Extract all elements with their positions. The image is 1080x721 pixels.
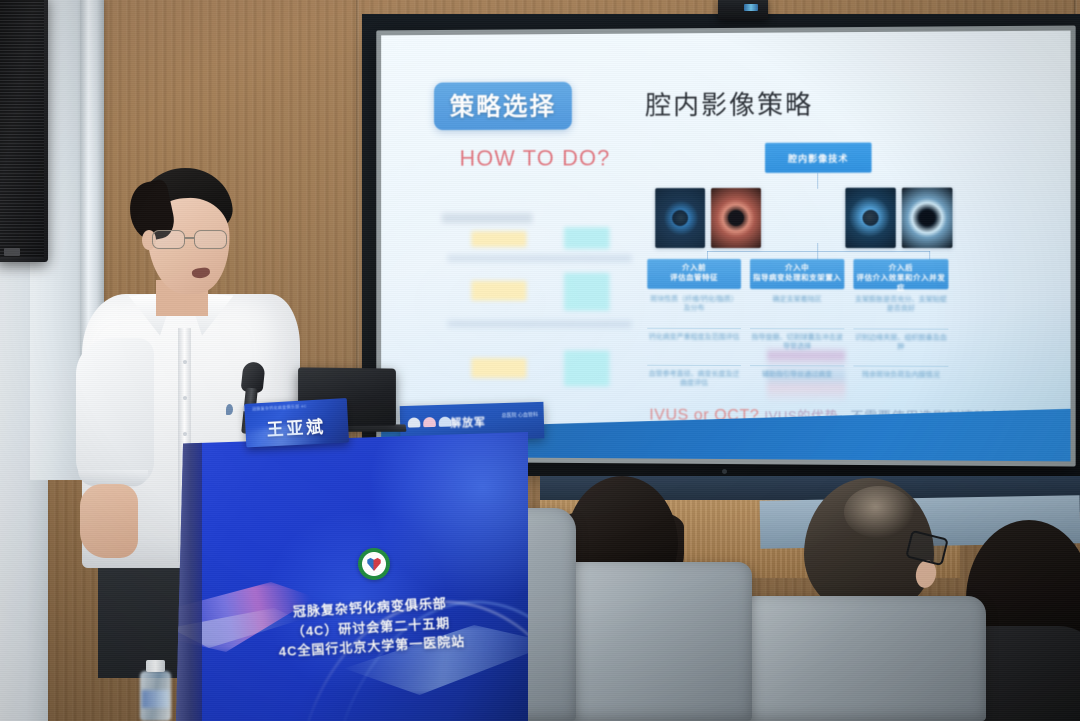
shirt-button [183,360,187,364]
table-header-blur [442,213,533,223]
oct-cross-section-2-image [902,188,953,248]
cell-sep [853,328,948,329]
cell-sep [750,328,844,329]
flow-cell-c2r3: 辅助指引导丝通过病变 [750,370,844,400]
flow-box-line1: 介入前 [647,263,741,273]
speaker-brand-logo [4,248,20,256]
speaker-glasses [150,230,234,250]
flow-box-during-intervention: 介入中 指导病变处理和支架置入 [750,259,844,289]
wall-speaker [0,0,48,262]
presentation-slide: 策略选择 腔内影像策略 HOW TO DO? [381,31,1070,462]
speaker-left-sleeve [76,338,154,488]
conference-chair-2[interactable] [556,562,752,721]
shirt-button [183,432,187,436]
bottle-label [142,690,169,708]
glasses-lens-left [152,230,185,249]
banner-subtext: 总医院 心血管科 [501,412,538,421]
water-bottle [138,660,172,721]
cell-sep [647,365,741,366]
emblem-heart-icon [366,557,382,571]
flow-connector-horizontal [707,251,930,252]
bottle-cap [146,660,165,672]
flow-stage-boxes: 介入前 评估血管特征 介入中 指导病变处理和支架置入 介入后 评估介入效果和介入… [647,259,948,289]
cell-sep [853,366,948,367]
flow-cell-c1r3: 血管参考直径、病变长度及迂曲度评估 [647,370,741,400]
flow-box-line1: 介入中 [750,263,844,273]
conference-room-photo: 策略选择 腔内影像策略 HOW TO DO? [0,0,1080,721]
banner-logo-icon [408,417,452,428]
table-cell-yellow [471,281,526,301]
flow-cell-c2r1: 确定支架着陆区 [750,295,844,325]
slide-left-table [438,209,645,412]
table-cell-cyan [564,227,610,249]
table-cell-cyan [564,350,610,386]
flow-box-post-intervention: 介入后 评估介入效果和介入并发症 [853,259,948,289]
flow-box-line2: 指导病变处理和支架置入 [750,273,844,283]
flow-cell-c1r2: 钙化病变严重程度及范围评估 [647,333,741,363]
speaker-nameplate: 冠脉复杂钙化病变俱乐部 4C 王亚斌 [244,398,349,447]
display-bezel: 策略选择 腔内影像策略 HOW TO DO? [381,31,1070,462]
flow-cell-c2r2: 指导旋磨、切割球囊及冲击波导管选择 [750,333,844,363]
oct-cross-section-1-image [711,188,761,248]
shirt-button [183,396,187,400]
glasses-lens-right [194,230,227,249]
conference-chair-3[interactable] [736,596,986,721]
cell-sep [647,328,741,329]
banner-text: 解放军 [450,414,486,431]
display-power-led [722,469,727,474]
slide-title-chip: 策略选择 [434,82,572,130]
ivus-cross-section-1-image [655,188,705,248]
flow-connector-vertical [817,173,818,189]
table-divider [448,255,632,262]
conference-camera [718,0,768,20]
flow-box-pre-intervention: 介入前 评估血管特征 [647,259,741,289]
ivus-cross-section-2-image [845,188,895,248]
flow-box-line2: 评估血管特征 [647,273,741,283]
speaker-grille-icon [0,0,44,258]
slide-how-to-do-label: HOW TO DO? [460,145,611,171]
flow-cell-c3r2: 识别边缘夹层、组织脱垂及血肿 [853,333,948,363]
display-screen[interactable]: 策略选择 腔内影像策略 HOW TO DO? [381,31,1070,462]
speaker-left-arm [80,484,138,558]
audience-member-2-scalp [844,486,914,538]
shirt-pocket-logo [226,404,233,415]
flow-box-line2: 评估介入效果和介入并发症 [853,273,948,293]
table-divider [448,320,632,327]
flow-cell-c3r3: 残余斑块负荷及内膜情况 [853,371,948,402]
flow-cell-c1r1: 斑块性质（纤维/钙化/脂质）及分布 [647,295,741,325]
flow-detail-cells: 斑块性质（纤维/钙化/脂质）及分布 确定支架着陆区 支架膨胀是否充分、支架贴壁是… [647,295,948,400]
slide-heading: 腔内影像策略 [645,85,813,123]
flow-cell-c3r1: 支架膨胀是否充分、支架贴壁是否良好 [853,295,948,325]
flow-box-line1: 介入后 [853,263,948,273]
table-cell-yellow [471,358,526,378]
slide-image-thumbnails [655,188,948,250]
table-cell-cyan [564,273,610,311]
table-cell-yellow [471,231,526,247]
4c-club-emblem [358,548,390,580]
speaker-podium: 冠脉复杂钙化病变俱乐部 （4C）研讨会第二十五期 4C全国行北京大学第一医院站 [176,432,528,721]
wall-display[interactable]: 策略选择 腔内影像策略 HOW TO DO? [376,25,1075,466]
cell-sep [750,365,844,366]
flow-top-box: 腔内影像技术 [765,143,872,173]
nameplate-top-label: 冠脉复杂钙化病变俱乐部 4C [252,403,307,412]
camera-lens-icon [744,4,758,11]
